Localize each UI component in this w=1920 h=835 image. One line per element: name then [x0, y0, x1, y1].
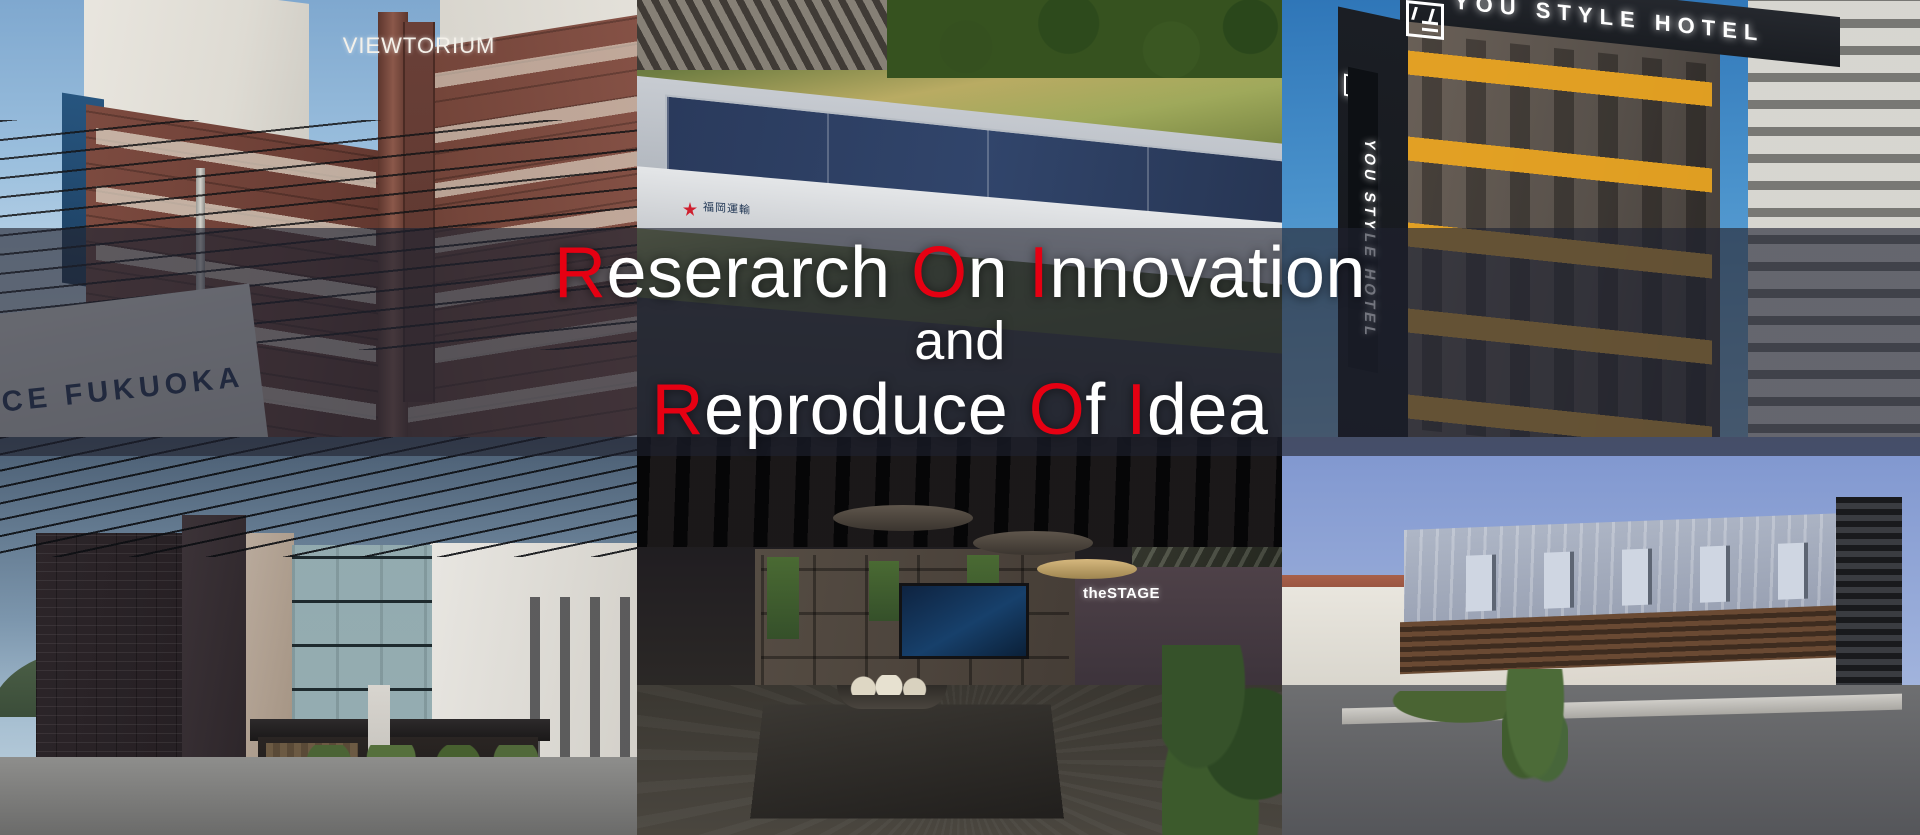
wall-screen	[899, 583, 1029, 659]
photo-tile-dark-brick-office[interactable]	[0, 437, 637, 835]
hero-banner: VIEWTORIUM NCE FUKUOKA 福岡運輸	[0, 0, 1920, 835]
tile-artwork	[1282, 437, 1920, 835]
headline-overlay-band	[0, 228, 1920, 456]
thestage-wall-sign: theSTAGE	[1083, 585, 1160, 602]
tile-artwork: theSTAGE	[637, 437, 1282, 835]
photo-tile-thestage-lounge[interactable]: theSTAGE	[637, 437, 1282, 835]
tile-artwork	[0, 437, 637, 835]
photo-tile-apartment-urashi[interactable]	[1282, 437, 1920, 835]
warehouse-wall-logo-text: 福岡運輸	[703, 198, 751, 217]
ys-logo-icon	[1406, 0, 1444, 40]
